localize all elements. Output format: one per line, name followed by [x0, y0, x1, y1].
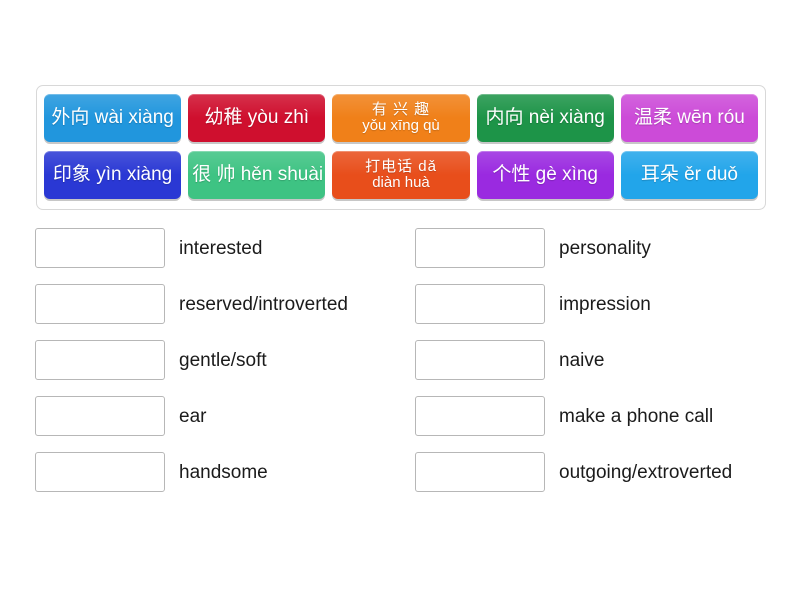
drop-zone[interactable]	[415, 228, 545, 268]
answer-label: ear	[179, 407, 206, 426]
answer-row: handsome	[35, 452, 415, 492]
word-tile-interested[interactable]: 有 兴 趣yǒu xīng qù	[332, 94, 469, 142]
answer-label: outgoing/extroverted	[559, 463, 732, 482]
answer-row: impression	[415, 284, 775, 324]
drop-zone[interactable]	[35, 452, 165, 492]
drop-zone[interactable]	[415, 340, 545, 380]
answer-label: handsome	[179, 463, 268, 482]
drop-zone[interactable]	[415, 396, 545, 436]
answer-label: make a phone call	[559, 407, 713, 426]
answer-row: ear	[35, 396, 415, 436]
answer-column-left: interestedreserved/introvertedgentle/sof…	[35, 228, 415, 508]
answer-row: personality	[415, 228, 775, 268]
tile-grid: 外向 wài xiàng幼稚 yòu zhì有 兴 趣yǒu xīng qù内向…	[44, 94, 758, 201]
drop-zone[interactable]	[35, 284, 165, 324]
answer-row: gentle/soft	[35, 340, 415, 380]
drop-zone[interactable]	[35, 396, 165, 436]
word-tile-personality[interactable]: 个性 gè xìng	[477, 151, 614, 199]
drop-zone[interactable]	[35, 228, 165, 268]
answer-row: reserved/introverted	[35, 284, 415, 324]
word-tile-naive[interactable]: 幼稚 yòu zhì	[188, 94, 325, 142]
word-tile-gentle[interactable]: 温柔 wēn róu	[621, 94, 758, 142]
word-tile-outgoing[interactable]: 外向 wài xiàng	[44, 94, 181, 142]
word-tile-text: 有 兴 趣yǒu xīng qù	[336, 102, 465, 134]
word-tile-text: 个性 gè xìng	[481, 165, 610, 186]
drop-zone[interactable]	[415, 284, 545, 324]
word-tile-line-1: 有 兴 趣	[336, 102, 465, 118]
word-tile-line-2: yǒu xīng qù	[336, 118, 465, 134]
word-tile-text: 很 帅 hěn shuài	[192, 165, 321, 186]
word-tile-text: 印象 yìn xiàng	[48, 165, 177, 186]
word-tile-line-2: diàn huà	[336, 175, 465, 191]
word-tile-text: 温柔 wēn róu	[625, 108, 754, 129]
answer-row: outgoing/extroverted	[415, 452, 775, 492]
answer-label: interested	[179, 239, 262, 258]
word-tile-text: 打电话 dǎdiàn huà	[336, 159, 465, 191]
word-tile-ear[interactable]: 耳朵 ěr duǒ	[621, 151, 758, 199]
answer-row: make a phone call	[415, 396, 775, 436]
word-tile-bank: 外向 wài xiàng幼稚 yòu zhì有 兴 趣yǒu xīng qù内向…	[36, 85, 766, 210]
word-tile-text: 内向 nèi xiàng	[481, 108, 610, 129]
answer-row: interested	[35, 228, 415, 268]
match-up-activity: 外向 wài xiàng幼稚 yòu zhì有 兴 趣yǒu xīng qù内向…	[0, 0, 800, 600]
word-tile-handsome[interactable]: 很 帅 hěn shuài	[188, 151, 325, 199]
answer-label: reserved/introverted	[179, 295, 348, 314]
word-tile-make-a-phone-call[interactable]: 打电话 dǎdiàn huà	[332, 151, 469, 199]
drop-zone[interactable]	[35, 340, 165, 380]
answer-area: interestedreserved/introvertedgentle/sof…	[35, 228, 775, 508]
word-tile-text: 耳朵 ěr duǒ	[625, 165, 754, 186]
answer-column-right: personalityimpressionnaivemake a phone c…	[415, 228, 775, 508]
drop-zone[interactable]	[415, 452, 545, 492]
answer-label: personality	[559, 239, 651, 258]
answer-label: impression	[559, 295, 651, 314]
word-tile-text: 幼稚 yòu zhì	[192, 108, 321, 129]
word-tile-text: 外向 wài xiàng	[48, 108, 177, 129]
word-tile-line-1: 打电话 dǎ	[336, 159, 465, 175]
answer-row: naive	[415, 340, 775, 380]
answer-label: naive	[559, 351, 604, 370]
word-tile-impression[interactable]: 印象 yìn xiàng	[44, 151, 181, 199]
answer-label: gentle/soft	[179, 351, 267, 370]
word-tile-introverted[interactable]: 内向 nèi xiàng	[477, 94, 614, 142]
